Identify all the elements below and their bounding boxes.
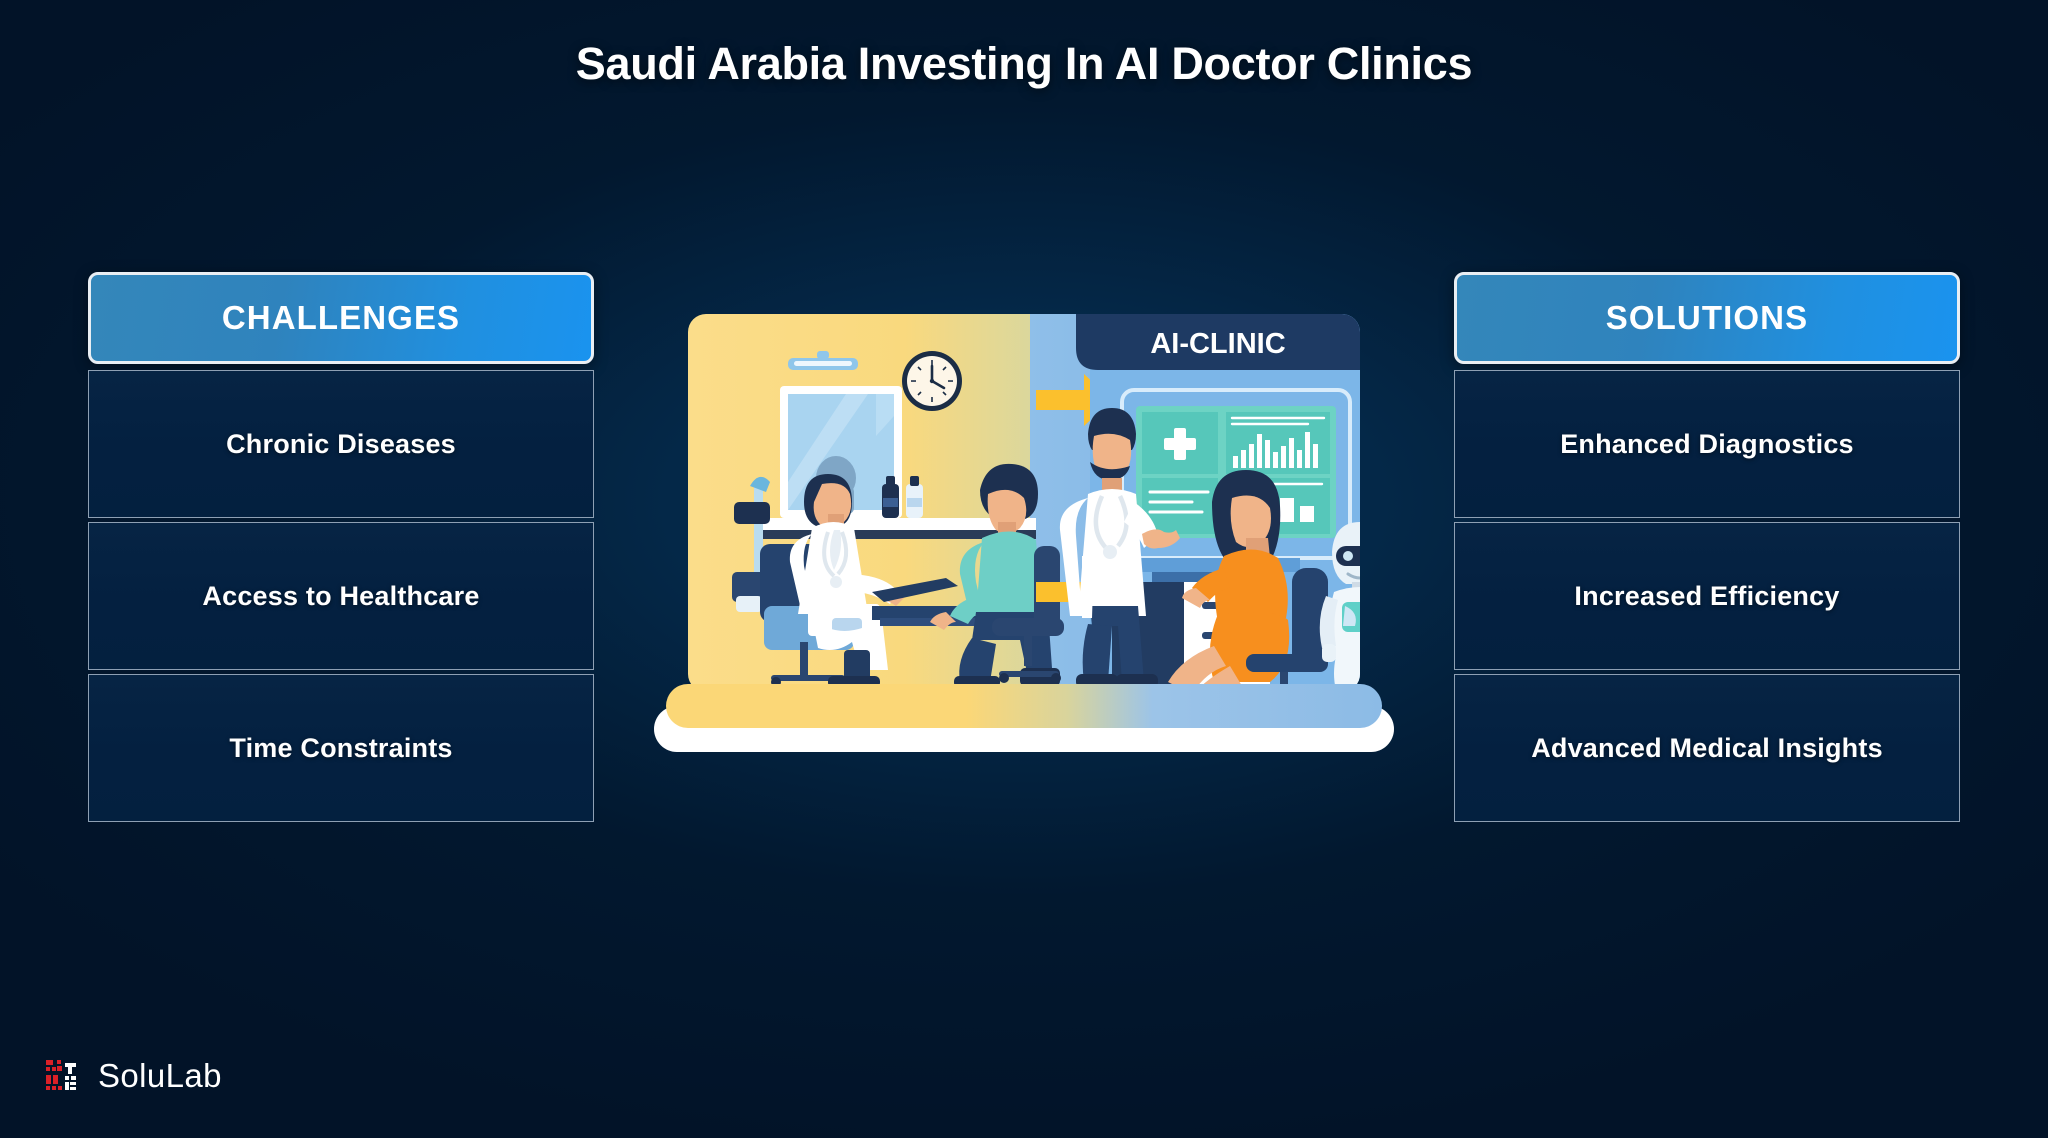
clock-icon: [902, 351, 962, 411]
ai-clinic-sign: AI-CLINIC: [1076, 314, 1360, 370]
solution-label: Increased Efficiency: [1574, 581, 1839, 612]
solulab-logo-text: SoluLab: [98, 1057, 222, 1095]
challenge-label: Time Constraints: [229, 733, 452, 764]
floor-platform: [654, 684, 1394, 752]
solutions-list: Enhanced Diagnostics Increased Efficienc…: [1454, 370, 1960, 822]
list-item[interactable]: Access to Healthcare: [88, 522, 594, 670]
list-item[interactable]: Time Constraints: [88, 674, 594, 822]
list-item[interactable]: Enhanced Diagnostics: [1454, 370, 1960, 518]
challenges-header: CHALLENGES: [88, 272, 594, 364]
solution-label: Advanced Medical Insights: [1531, 733, 1883, 764]
challenges-column: CHALLENGES Chronic Diseases Access to He…: [88, 272, 594, 822]
illustration-card: AI-CLINIC: [688, 314, 1398, 722]
solutions-header-label: SOLUTIONS: [1606, 299, 1808, 337]
challenges-header-label: CHALLENGES: [222, 299, 460, 337]
clinic-illustration: AI-CLINIC: [636, 306, 1412, 772]
challenge-label: Access to Healthcare: [202, 581, 479, 612]
list-item[interactable]: Chronic Diseases: [88, 370, 594, 518]
page-title: Saudi Arabia Investing In AI Doctor Clin…: [0, 38, 2048, 90]
solutions-header: SOLUTIONS: [1454, 272, 1960, 364]
list-item[interactable]: Increased Efficiency: [1454, 522, 1960, 670]
solulab-logo[interactable]: SoluLab: [44, 1056, 222, 1096]
challenges-list: Chronic Diseases Access to Healthcare Ti…: [88, 370, 594, 822]
list-item[interactable]: Advanced Medical Insights: [1454, 674, 1960, 822]
solutions-column: SOLUTIONS Enhanced Diagnostics Increased…: [1454, 272, 1960, 822]
clinic-illustration-svg: AI-CLINIC: [636, 306, 1412, 772]
solution-label: Enhanced Diagnostics: [1560, 429, 1854, 460]
ai-clinic-sign-label: AI-CLINIC: [1150, 328, 1285, 360]
challenge-label: Chronic Diseases: [226, 429, 456, 460]
solulab-logo-mark-icon: [44, 1056, 84, 1096]
